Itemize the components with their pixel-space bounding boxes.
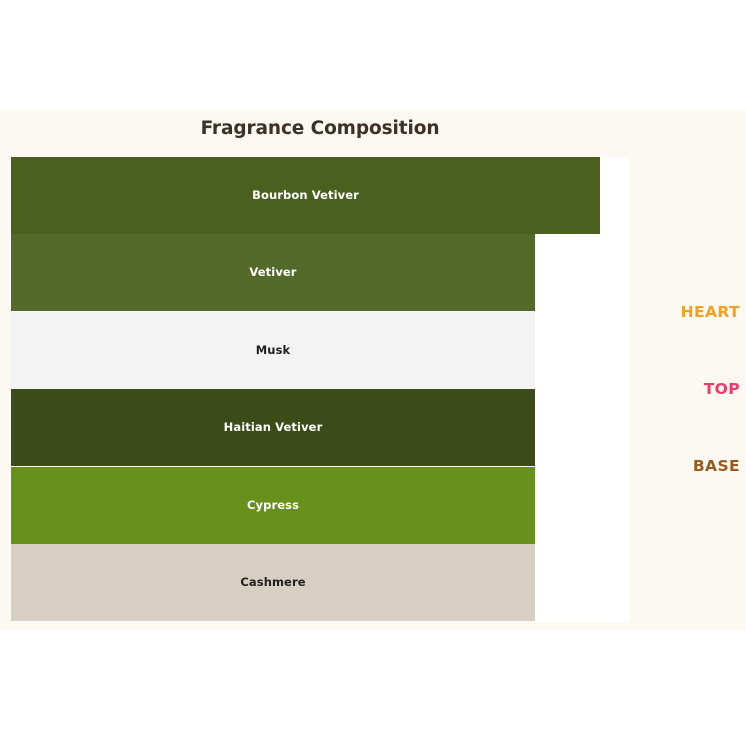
bar-label: Haitian Vetiver [224,422,323,434]
figure-panel: Fragrance Composition Bourbon Vetiver Ve… [0,110,746,630]
bar-label: Musk [256,345,291,357]
bar-row[interactable]: Bourbon Vetiver [11,157,600,234]
bar-row[interactable]: Cypress [11,467,535,544]
bar-row[interactable]: Musk [11,312,535,389]
bar-label: Cypress [247,500,299,512]
page-title: Fragrance Composition [0,118,640,139]
bar-row[interactable]: Haitian Vetiver [11,389,535,466]
chart-plot-area: Bourbon Vetiver Vetiver Musk Haitian Vet… [11,157,630,623]
bar-label: Vetiver [249,267,296,279]
bar-row[interactable]: Cashmere [11,544,535,621]
note-family-label-top: TOP [704,382,740,398]
bar-label: Cashmere [240,577,305,589]
note-family-label-base: BASE [693,459,740,475]
note-family-label-heart: HEART [681,305,740,321]
bar-row[interactable]: Vetiver [11,234,535,311]
screenshot-root: Fragrance Composition Bourbon Vetiver Ve… [0,0,746,746]
bar-label: Bourbon Vetiver [252,190,359,202]
